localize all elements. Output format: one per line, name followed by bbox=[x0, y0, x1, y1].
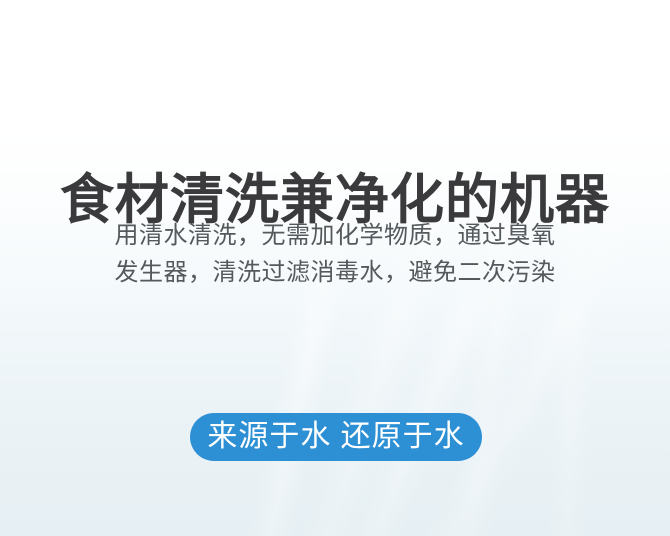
promo-banner: 食材清洗兼净化的机器 用清水清洗，无需加化学物质，通过臭氧 发生器，清洗过滤消毒… bbox=[0, 0, 670, 536]
banner-content: 食材清洗兼净化的机器 用清水清洗，无需加化学物质，通过臭氧 发生器，清洗过滤消毒… bbox=[0, 0, 670, 536]
slogan-pill-button[interactable]: 来源于水 还原于水 bbox=[190, 413, 482, 461]
subtitle-line-1: 用清水清洗，无需加化学物质，通过臭氧 bbox=[0, 217, 670, 254]
subtitle-line-2: 发生器，清洗过滤消毒水，避免二次污染 bbox=[0, 254, 670, 291]
subtitle-block: 用清水清洗，无需加化学物质，通过臭氧 发生器，清洗过滤消毒水，避免二次污染 bbox=[0, 217, 670, 291]
